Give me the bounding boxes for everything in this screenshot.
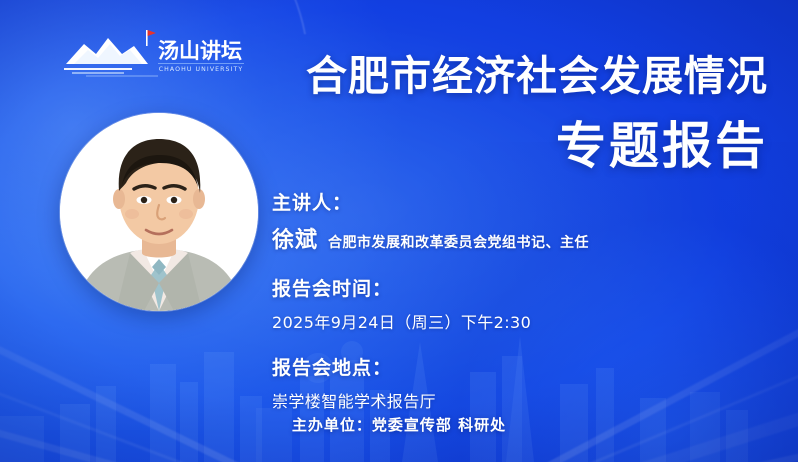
tangshan-forum-logo[interactable]: 汤山讲坛 CHAOHU UNIVERSITY: [62, 22, 247, 80]
venue-block: 报告会地点： 崇学楼智能学术报告厅: [272, 353, 742, 412]
poster-canvas: 汤山讲坛 CHAOHU UNIVERSITY: [0, 0, 798, 462]
time-value: 2025年9月24日（周三）下午2:30: [272, 309, 742, 333]
event-info-block: 主讲人： 徐斌 合肥市发展和改革委员会党组书记、主任 报告会时间： 2025年9…: [272, 188, 742, 412]
speaker-label: 主讲人：: [272, 188, 742, 215]
time-block: 报告会时间： 2025年9月24日（周三）下午2:30: [272, 274, 742, 333]
speaker-name: 徐斌: [272, 222, 318, 254]
logo-subtitle-text: CHAOHU UNIVERSITY: [159, 66, 244, 73]
background-ray: [397, 431, 798, 462]
portrait-illustration: [60, 113, 258, 311]
logo-wordmark-text: 汤山讲坛: [158, 39, 242, 63]
venue-label: 报告会地点：: [272, 353, 742, 380]
speaker-portrait-photo: [60, 113, 258, 311]
headline-line-2: 专题报告: [306, 118, 768, 176]
organizer-footer: 主办单位：党委宣传部 科研处: [0, 414, 798, 435]
speaker-row: 徐斌 合肥市发展和改革委员会党组书记、主任: [272, 222, 742, 254]
headline-line-1: 合肥市经济社会发展情况: [306, 54, 768, 100]
speaker-title: 合肥市发展和改革委员会党组书记、主任: [328, 232, 589, 254]
time-label: 报告会时间：: [272, 274, 742, 301]
venue-value: 崇学楼智能学术报告厅: [272, 388, 742, 412]
poster-headline: 合肥市经济社会发展情况 专题报告: [306, 54, 768, 175]
